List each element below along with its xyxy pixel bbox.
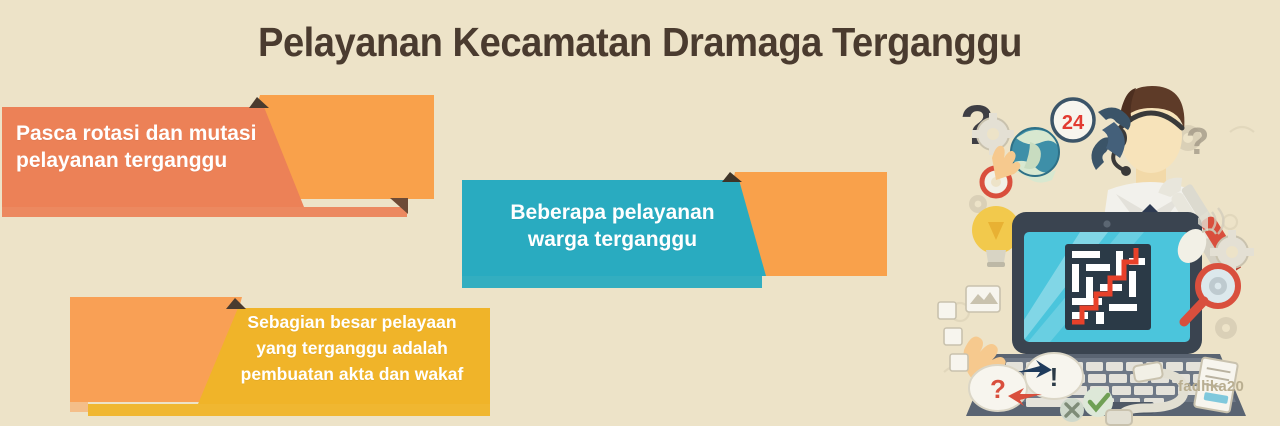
phone-24-badge-label: 24	[1062, 112, 1085, 134]
banner-3-back-fold	[70, 402, 88, 412]
banner-3-text: Sebagian besar pelayaan yang terganggu a…	[218, 310, 486, 388]
banner-1-text: Pasca rotasi dan mutasi pelayanan tergan…	[16, 120, 286, 175]
watermark: fadlika20	[1178, 378, 1244, 395]
banner-1-shadow-strip	[2, 207, 407, 217]
question-mark-icon-small: ?	[1186, 121, 1209, 163]
banner-2-text: Beberapa pelayanan warga terganggu	[470, 199, 755, 254]
maze-screen	[1065, 244, 1151, 330]
banner-2-shadow-strip	[462, 276, 762, 288]
gear-icon-3	[1209, 277, 1227, 295]
document-icon	[966, 286, 1000, 312]
globe-icon	[1011, 128, 1059, 183]
phone-24-icon: 24	[1052, 99, 1131, 170]
customer-support-laptop-maze-illustration: ? ?	[930, 72, 1280, 426]
banner-3-shadow-strip	[88, 404, 490, 416]
infographic-root: Pelayanan Kecamatan Dramaga Terganggu Pa…	[0, 0, 1280, 426]
banner-sebagian-besar: Sebagian besar pelayaan yang terganggu a…	[70, 292, 495, 420]
banner-pasca-rotasi: Pasca rotasi dan mutasi pelayanan tergan…	[2, 95, 434, 220]
banner-beberapa-pelayanan: Beberapa pelayanan warga terganggu	[462, 172, 890, 296]
exclamation-mark-icon: !	[1050, 362, 1059, 392]
file-badge-icons	[938, 302, 968, 371]
question-mark-icon-disc: ?	[990, 374, 1006, 404]
page-title: Pelayanan Kecamatan Dramaga Terganggu	[45, 19, 1235, 66]
cross-icon	[1060, 398, 1084, 422]
